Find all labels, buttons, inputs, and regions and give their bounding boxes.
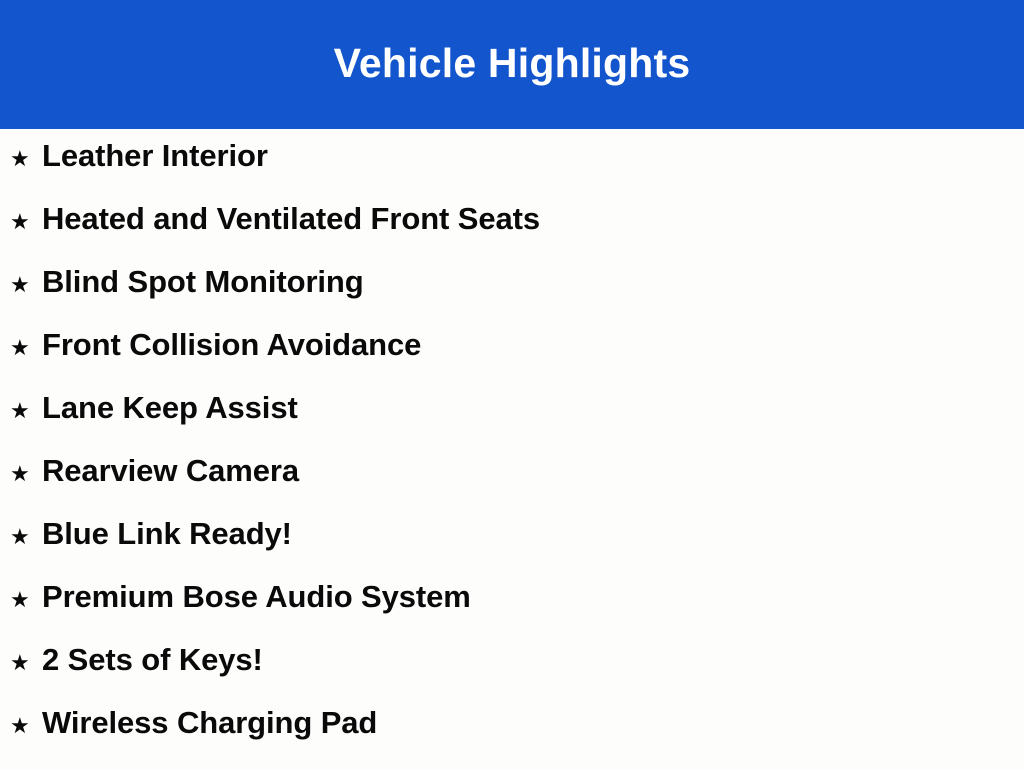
star-icon: ★ [10, 590, 42, 612]
list-item: ★ Rearview Camera [0, 455, 1024, 518]
list-item-label: Front Collision Avoidance [42, 329, 1024, 360]
star-icon: ★ [10, 275, 42, 297]
star-icon: ★ [10, 653, 42, 675]
star-icon: ★ [10, 716, 42, 738]
star-icon: ★ [10, 149, 42, 171]
star-icon: ★ [10, 338, 42, 360]
list-item-label: Premium Bose Audio System [42, 581, 1024, 612]
list-item: ★ Premium Bose Audio System [0, 581, 1024, 644]
list-item-label: 2 Sets of Keys! [42, 644, 1024, 675]
list-item: ★ Lane Keep Assist [0, 392, 1024, 455]
list-item: ★ Wireless Charging Pad [0, 707, 1024, 770]
highlights-content: ★ Leather Interior ★ Heated and Ventilat… [0, 129, 1024, 770]
star-icon: ★ [10, 212, 42, 234]
list-item: ★ Front Collision Avoidance [0, 329, 1024, 392]
star-icon: ★ [10, 401, 42, 423]
page-title: Vehicle Highlights [334, 43, 691, 84]
list-item-label: Leather Interior [42, 140, 1024, 171]
highlights-list: ★ Leather Interior ★ Heated and Ventilat… [0, 129, 1024, 770]
page-header: Vehicle Highlights [0, 0, 1024, 129]
list-item-label: Lane Keep Assist [42, 392, 1024, 423]
list-item-label: Rearview Camera [42, 455, 1024, 486]
list-item: ★ 2 Sets of Keys! [0, 644, 1024, 707]
list-item-label: Heated and Ventilated Front Seats [42, 203, 1024, 234]
vehicle-highlights-page: Vehicle Highlights ★ Leather Interior ★ … [0, 0, 1024, 768]
list-item: ★ Blue Link Ready! [0, 518, 1024, 581]
star-icon: ★ [10, 464, 42, 486]
list-item: ★ Blind Spot Monitoring [0, 266, 1024, 329]
list-item-label: Wireless Charging Pad [42, 707, 1024, 738]
star-icon: ★ [10, 527, 42, 549]
list-item: ★ Leather Interior [0, 129, 1024, 203]
list-item-label: Blind Spot Monitoring [42, 266, 1024, 297]
list-item: ★ Heated and Ventilated Front Seats [0, 203, 1024, 266]
list-item-label: Blue Link Ready! [42, 518, 1024, 549]
